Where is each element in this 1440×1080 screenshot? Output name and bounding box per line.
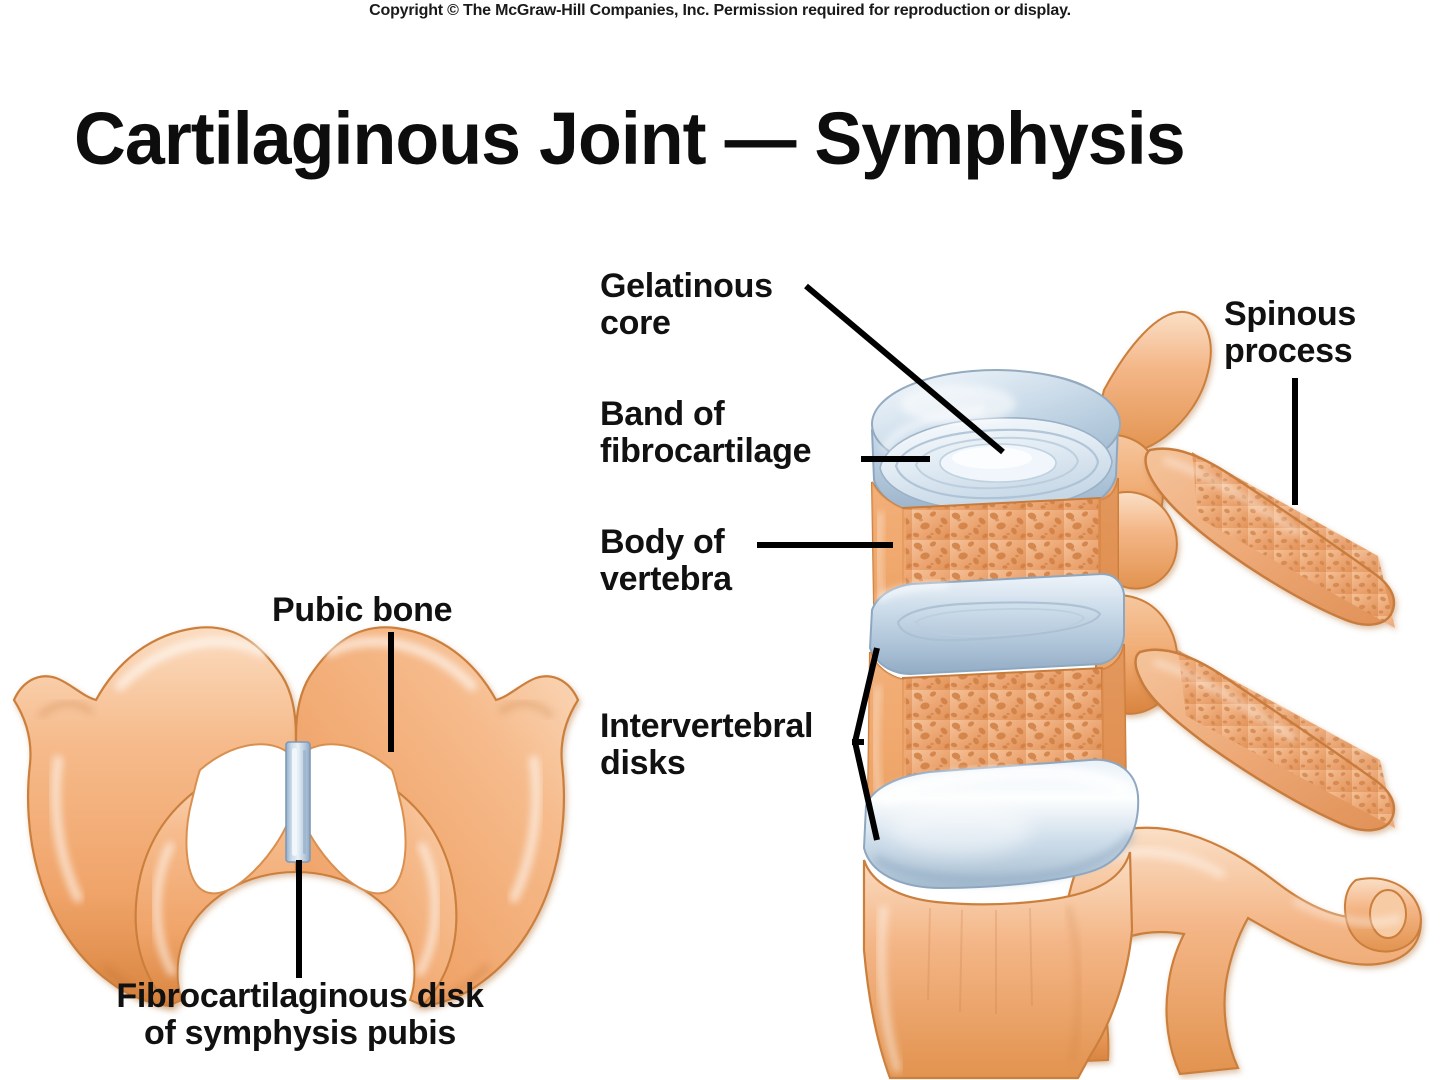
label-pubic-bone: Pubic bone [272, 592, 452, 629]
label-fibrocartilaginous-disk-of-symphysis-pubis: Fibrocartilaginous disk of symphysis pub… [0, 978, 600, 1053]
label-band-of-fibrocartilage: Band of fibrocartilage [600, 396, 811, 471]
spinous-process-upper [1146, 440, 1411, 640]
figure-page: Copyright © The McGraw-Hill Companies, I… [0, 0, 1440, 1080]
label-spinous-process: Spinous process [1224, 296, 1356, 371]
symphysis-pubis-disk [286, 742, 310, 862]
middle-intervertebral-disk [870, 574, 1124, 674]
bottom-intervertebral-disk [864, 760, 1138, 888]
label-gelatinous-core: Gelatinous core [600, 268, 773, 343]
spinous-process-lower [1136, 640, 1411, 850]
label-intervertebral-disks: Intervertebral disks [600, 708, 813, 783]
label-body-of-vertebra: Body of vertebra [600, 524, 732, 599]
vertebral-column-illustration [864, 312, 1421, 1078]
